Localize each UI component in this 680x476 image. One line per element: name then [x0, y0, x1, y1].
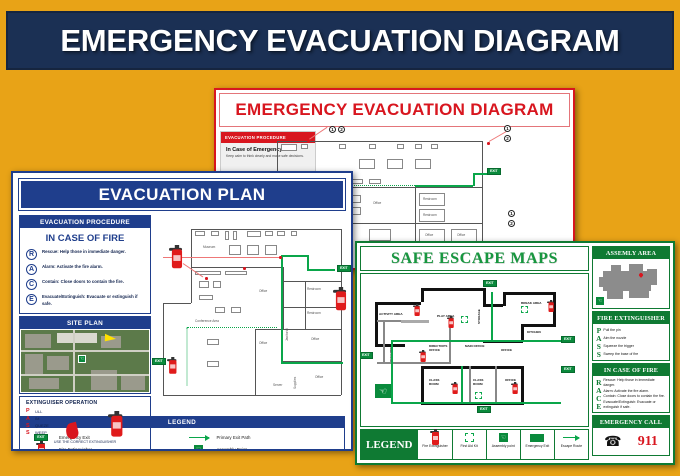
ep-race-item: C Contain: Close doors to contain the fi… — [20, 278, 150, 293]
eed-marker: 2 — [508, 220, 515, 227]
pass-acronym: PASS — [595, 326, 601, 358]
sem-legend-label: Escape Route — [561, 444, 582, 448]
sem-room-label: DIRECTOR'S OFFICE — [429, 344, 453, 352]
ep-exit-path — [281, 362, 343, 364]
sem-fire-section: IN CASE OF FIRE RACE Rescue: Help those … — [592, 363, 670, 413]
ep-room-label: Supplies — [293, 377, 297, 389]
sem-room-label: CLASS ROOM — [429, 378, 447, 386]
assembly-point-icon: ☜ — [194, 445, 203, 451]
eed-exit-path — [415, 185, 473, 187]
document-evacuation-plan[interactable]: EVACUATION PLAN EVACUATION PROCEDURE IN … — [11, 171, 353, 451]
sem-legend-header: LEGEND — [361, 430, 417, 459]
escape-route-icon — [563, 432, 579, 443]
sem-exit-sign: EXIT — [477, 406, 491, 413]
sem-room-label: KITCHEN — [527, 330, 543, 334]
ep-site-plan-panel: SITE PLAN ☜ — [19, 316, 151, 394]
first-aid-kit-icon — [475, 392, 482, 399]
sem-escape-route — [391, 340, 491, 342]
sem-escape-route — [491, 292, 493, 342]
sem-title: SAFE ESCAPE MAPS — [391, 250, 558, 268]
ep-secondary-path — [187, 327, 277, 328]
ep-race-heading: IN CASE OF FIRE — [20, 228, 150, 248]
ep-exit-path — [281, 255, 283, 363]
eed-marker: 2 — [504, 135, 511, 142]
eed-marker: 1 — [329, 126, 336, 133]
ep-room-label: Office — [311, 337, 319, 341]
ep-title-bar: EVACUATION PLAN — [19, 179, 345, 210]
ep-room-label: Restroom — [307, 311, 321, 315]
ep-exit-path — [281, 255, 307, 257]
document-safe-escape-maps[interactable]: SAFE ESCAPE MAPS — [355, 241, 675, 465]
sem-legend-item: Escape Route — [554, 430, 588, 459]
sem-exit-sign: EXIT — [561, 336, 575, 343]
sem-room-label: BREAK AREA — [521, 301, 543, 305]
sem-room-label: ACTIVITY AREA — [379, 312, 409, 316]
ep-sidebar: EVACUATION PROCEDURE IN CASE OF FIRE R R… — [19, 215, 151, 411]
pass-item: S QUEZE — [20, 423, 150, 430]
eed-marker: 2 — [338, 126, 345, 133]
sem-extinguisher-section: FIRE EXTINGUISHER PASS Pull the pin Aim … — [592, 311, 670, 361]
ep-exit-sign: EXIT — [152, 358, 166, 365]
pass-item: P ULL — [20, 408, 150, 415]
race-text-r: Rescue: Help those in immediate danger. — [42, 249, 126, 256]
ep-room-label: Museum — [203, 245, 215, 249]
race-letter-a: A — [26, 264, 37, 275]
ep-site-plan-image: ☜ — [21, 330, 149, 392]
race-acronym: RACE — [595, 378, 601, 410]
sem-room-label: OFFICE — [501, 348, 512, 352]
sem-room-label: CLASS ROOM — [473, 378, 491, 386]
ep-room-label: Office — [315, 375, 323, 379]
pass-letter-s1: S — [26, 423, 31, 429]
sem-emergency-call-header: EMERGENCY CALL — [593, 416, 669, 428]
eed-marker: 1 — [508, 210, 515, 217]
race-step: Rescue: Help those in immediate danger. — [603, 378, 667, 388]
sem-legend: LEGEND Fire Extinguisher First Aid Kit ☜ — [360, 429, 589, 460]
sem-legend-label: Assembly point — [492, 444, 515, 448]
ep-exit-sign: EXIT — [337, 265, 351, 272]
pass-text-s1: QUEZE — [35, 423, 49, 428]
ep-secondary-path — [187, 328, 188, 386]
sem-escape-route — [461, 366, 463, 404]
sem-legend-label: First Aid Kit — [461, 444, 478, 448]
ep-race-item: A Alarm: Activate the fire alarm. — [20, 263, 150, 278]
legend-label: Primary Exit Path — [217, 435, 339, 440]
eed-title-bar: EMERGENCY EVACUATION DIAGRAM — [219, 93, 570, 127]
ep-room-label: Janitorial — [285, 328, 289, 341]
first-aid-kit-icon — [465, 432, 474, 443]
pass-step: Pull the pin — [603, 328, 667, 333]
ep-room-label: Office — [259, 289, 267, 293]
ep-title: EVACUATION PLAN — [99, 185, 266, 205]
page-title: EMERGENCY EVACUATION DIAGRAM — [60, 23, 619, 59]
ep-procedure-panel: EVACUATION PROCEDURE IN CASE OF FIRE R R… — [19, 215, 151, 314]
sem-legend-item: ☜ Assembly point — [486, 430, 520, 459]
sem-exit-sign: EXIT — [483, 280, 497, 287]
eed-exit-sign: EXIT — [487, 168, 501, 175]
emergency-exit-icon — [530, 432, 544, 443]
sem-escape-route — [391, 340, 393, 402]
race-step: Evacuate/Extinguish: Evacuate or extingu… — [603, 400, 667, 410]
sem-legend-label: Emergency Exit — [525, 444, 549, 448]
sem-floorplan: ACTIVITY AREA PLAY AREA STORAGE BREAK AR… — [360, 273, 589, 427]
eed-exit-path — [473, 173, 487, 175]
legend-arrow-icon — [184, 432, 214, 443]
ep-exit-path — [307, 255, 309, 269]
ep-room-label: Conference Area — [195, 319, 219, 323]
pass-item: A IM — [20, 416, 150, 423]
sem-escape-route — [391, 402, 561, 404]
ep-race-item: R Rescue: Help those in immediate danger… — [20, 248, 150, 263]
ep-exit-path — [307, 269, 335, 271]
sem-assembly-map: ☜ — [595, 261, 667, 306]
ep-procedure-header: EVACUATION PROCEDURE — [20, 216, 150, 228]
site-plan-assembly-icon: ☜ — [78, 355, 86, 363]
legend-label: Assembly Point — [217, 447, 339, 451]
eed-exit-path — [473, 173, 475, 186]
sem-assembly-section: ASSEMLY AREA ☜ — [592, 246, 670, 309]
first-aid-kit-icon — [461, 316, 468, 323]
emergency-number: 911 — [638, 434, 658, 450]
page-banner: EMERGENCY EVACUATION DIAGRAM — [6, 11, 674, 70]
sem-title-bar: SAFE ESCAPE MAPS — [360, 246, 589, 271]
sem-legend-item: First Aid Kit — [452, 430, 486, 459]
race-text-a: Alarm: Activate the fire alarm. — [42, 264, 103, 271]
pass-text-p: ULL — [35, 409, 42, 414]
sem-exit-sign: EXIT — [360, 352, 373, 359]
sem-assembly-header: ASSEMLY AREA — [593, 247, 669, 259]
eed-title: EMERGENCY EVACUATION DIAGRAM — [235, 100, 553, 120]
fire-extinguisher-icon — [430, 432, 440, 443]
sem-escape-route — [491, 340, 561, 342]
eed-marker: 1 — [504, 125, 511, 132]
sem-legend-item: Emergency Exit — [520, 430, 554, 459]
sem-legend-item: Fire Extinguisher — [417, 430, 451, 459]
sem-sidebar: ASSEMLY AREA ☜ FIRE EXTINGUISHER PASS — [592, 246, 670, 460]
ep-room-label: Restroom — [307, 287, 321, 291]
ep-floorplan: Museum Office Restroom Restroom Conferen… — [155, 215, 345, 411]
ep-extinguisher-header: EXTINGUISER OPERATION — [20, 397, 150, 408]
ep-room-label: Server — [273, 383, 282, 387]
pass-letter-a: A — [26, 416, 31, 422]
race-letter-e: E — [26, 294, 37, 305]
race-text-c: Contain: Close doors to contain the fire… — [42, 279, 124, 286]
assembly-point-icon: ☜ — [499, 432, 508, 443]
sem-fire-header: IN CASE OF FIRE — [593, 364, 669, 376]
ep-room-label: Office — [259, 341, 267, 345]
ep-race-item: E Evacuate/Extinguish: Evacuate or extin… — [20, 293, 150, 313]
assembly-point-icon: ☜ — [596, 297, 604, 305]
sem-exit-sign: EXIT — [561, 366, 575, 373]
phone-icon: ☎ — [604, 433, 621, 450]
race-step: Alarm: Activate the fire alarm. — [603, 389, 667, 394]
legend-assembly-icon: ☜ — [184, 444, 214, 451]
sem-extinguisher-header: FIRE EXTINGUISHER — [593, 312, 669, 324]
first-aid-kit-icon — [521, 306, 528, 313]
sem-emergency-call-section: EMERGENCY CALL ☎ 911 — [592, 415, 670, 456]
pass-step: Squeeze the trigger — [603, 344, 667, 349]
race-letter-r: R — [26, 249, 37, 260]
pass-text-a: IM — [35, 416, 39, 421]
race-step: Contain: Close doors to contain the fire… — [603, 394, 667, 399]
race-text-e: Evacuate/Extinguish: Evacuate or extingu… — [42, 294, 144, 307]
fire-extinguisher-icon — [36, 441, 46, 451]
ep-site-plan-header: SITE PLAN — [20, 317, 150, 329]
pass-step: Aim the nozzle — [603, 336, 667, 341]
eed-secondary-path — [349, 185, 417, 186]
sem-room-label: MAIN OFFICE — [465, 344, 487, 348]
pass-step: Sweep the base of fire — [603, 352, 667, 357]
assembly-point-icon: ☜ — [375, 384, 391, 398]
legend-extinguisher-icon — [26, 444, 56, 451]
pass-letter-p: P — [26, 408, 31, 414]
sem-room-label: STORAGE — [477, 309, 481, 324]
race-letter-c: C — [26, 279, 37, 290]
